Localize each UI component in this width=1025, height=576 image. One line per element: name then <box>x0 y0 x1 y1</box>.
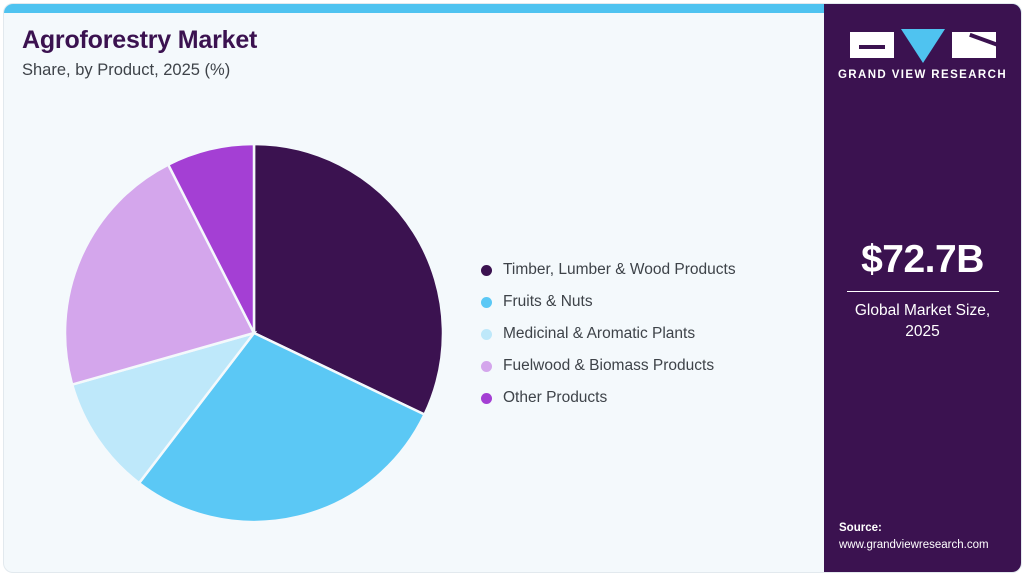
title-block: Agroforestry Market Share, by Product, 2… <box>22 26 642 81</box>
chart-legend: Timber, Lumber & Wood ProductsFruits & N… <box>481 254 811 414</box>
legend-item: Other Products <box>481 382 811 414</box>
legend-swatch-icon <box>481 297 492 308</box>
logo-v-triangle-icon <box>901 29 945 63</box>
legend-label: Fuelwood & Biomass Products <box>503 357 714 375</box>
stat-label: Global Market Size, 2025 <box>824 301 1021 343</box>
page-title: Agroforestry Market <box>22 26 642 55</box>
page-subtitle: Share, by Product, 2025 (%) <box>22 61 642 81</box>
logo-r-icon <box>952 32 996 58</box>
pie-chart <box>64 143 444 523</box>
legend-item: Medicinal & Aromatic Plants <box>481 318 811 350</box>
stat-divider <box>847 291 999 292</box>
stat-value: $72.7B <box>824 240 1021 279</box>
legend-label: Timber, Lumber & Wood Products <box>503 261 736 279</box>
brand-name: GRAND VIEW RESEARCH <box>824 69 1021 81</box>
legend-label: Other Products <box>503 389 607 407</box>
brand-logo: GRAND VIEW RESEARCH <box>824 30 1021 81</box>
legend-swatch-icon <box>481 265 492 276</box>
legend-label: Fruits & Nuts <box>503 293 593 311</box>
legend-item: Fuelwood & Biomass Products <box>481 350 811 382</box>
legend-swatch-icon <box>481 393 492 404</box>
market-size-stat: $72.7B Global Market Size, 2025 <box>824 240 1021 343</box>
pie-svg <box>64 143 444 523</box>
pie-slice-group <box>65 144 443 522</box>
legend-item: Timber, Lumber & Wood Products <box>481 254 811 286</box>
source-url: www.grandviewresearch.com <box>839 537 1019 553</box>
legend-swatch-icon <box>481 329 492 340</box>
legend-label: Medicinal & Aromatic Plants <box>503 325 695 343</box>
legend-item: Fruits & Nuts <box>481 286 811 318</box>
source-title: Source: <box>839 521 1019 537</box>
chart-infographic: Agroforestry Market Share, by Product, 2… <box>0 0 1025 576</box>
logo-marks <box>824 30 1021 60</box>
legend-swatch-icon <box>481 361 492 372</box>
logo-g-icon <box>850 32 894 58</box>
brand-panel: GRAND VIEW RESEARCH $72.7B Global Market… <box>824 4 1021 572</box>
source-block: Source: www.grandviewresearch.com <box>839 521 1019 553</box>
infographic-card: Agroforestry Market Share, by Product, 2… <box>4 4 1021 572</box>
